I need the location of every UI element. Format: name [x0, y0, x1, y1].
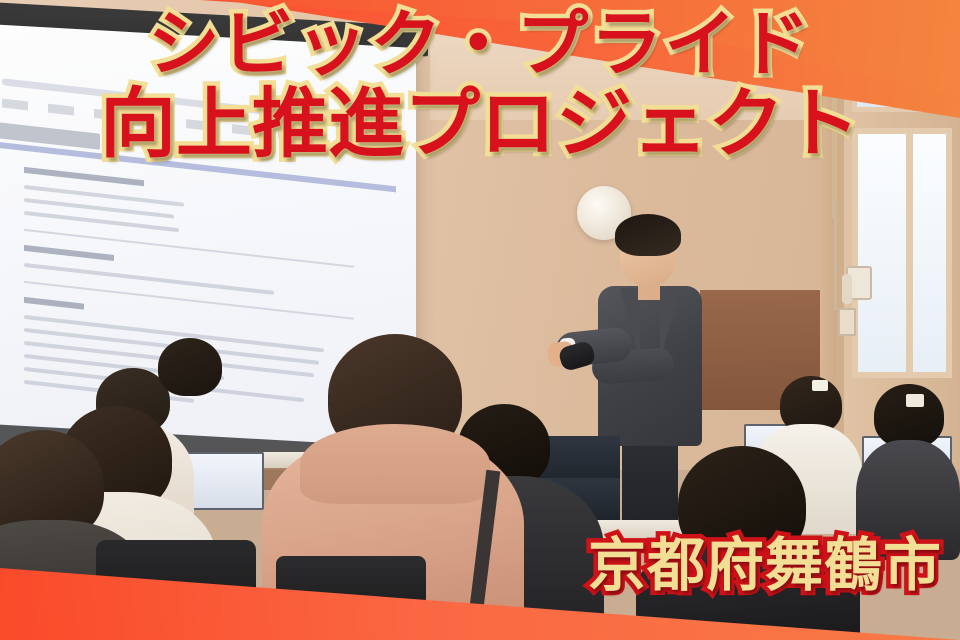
presenter-hair — [615, 214, 681, 256]
audience-head — [158, 338, 222, 396]
phone-handset — [842, 274, 852, 304]
hair-clip — [812, 380, 828, 391]
hood — [300, 424, 490, 504]
banner-title: シビック・プライド 向上推進プロジェクト — [0, 8, 960, 163]
window-mullion — [906, 128, 913, 378]
phone-cord — [834, 200, 837, 310]
banner-image: シビック・プライド 向上推進プロジェクト 京都府舞鶴市 — [0, 0, 960, 640]
title-line-1: シビック・プライド — [0, 8, 960, 81]
title-line-2: 向上推進プロジェクト — [0, 85, 960, 163]
window-pane — [852, 128, 952, 378]
city-label: 京都府舞鶴市 — [588, 518, 942, 602]
hair-clip — [906, 394, 924, 407]
phone-junction-box — [838, 308, 856, 336]
